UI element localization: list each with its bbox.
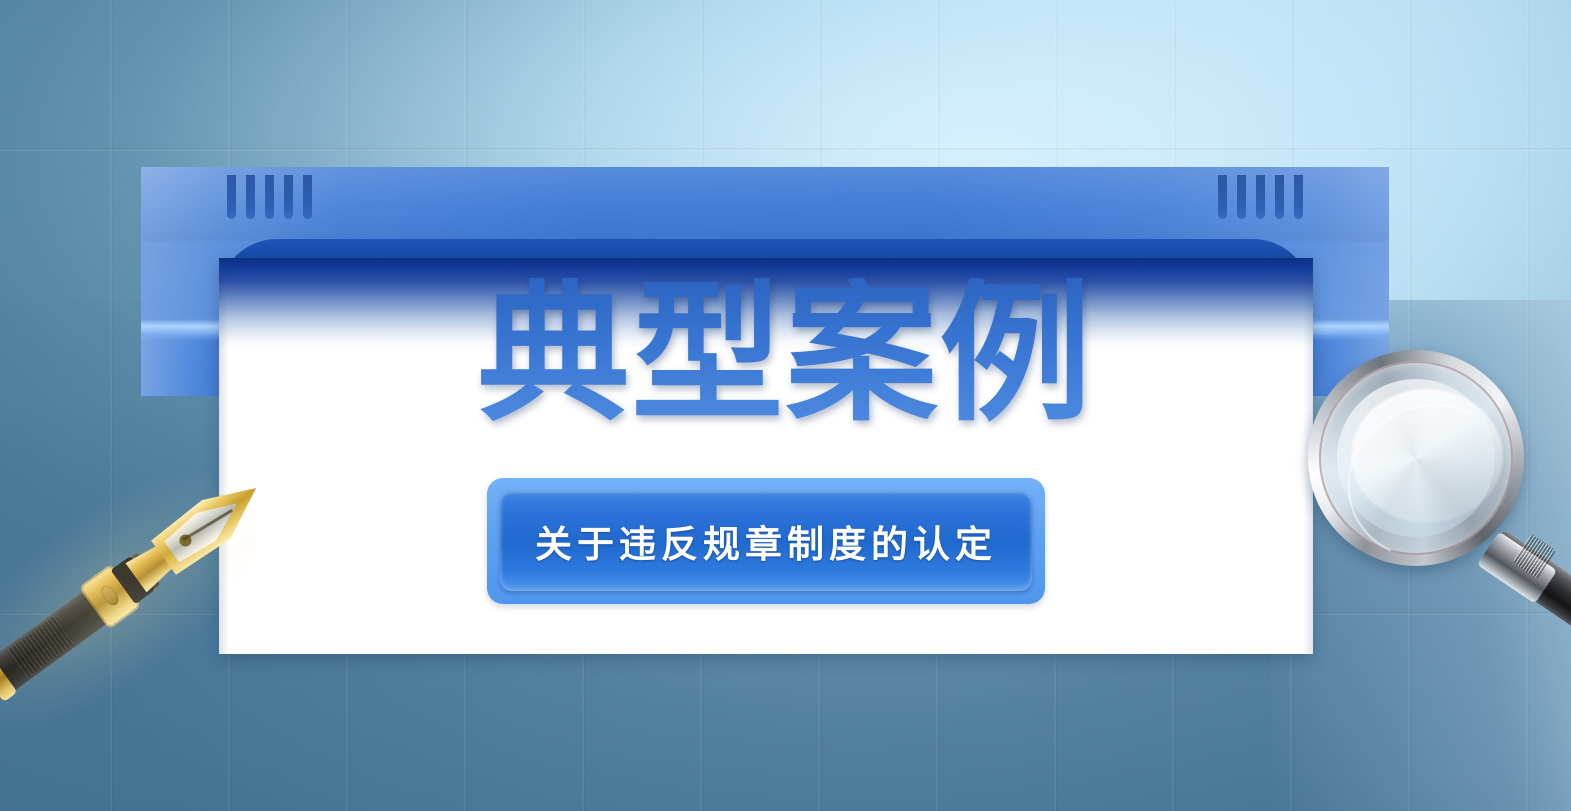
magnifier-lens (1337, 379, 1495, 537)
vent-slit (284, 175, 293, 219)
printer-vents-right (1218, 175, 1303, 219)
vent-slit (1237, 175, 1246, 219)
vent-slit (265, 175, 274, 219)
printer-top-lip (141, 167, 1389, 241)
vent-slit (1294, 175, 1303, 219)
subtitle-button-face[interactable]: 关于违反规章制度的认定 (500, 491, 1032, 591)
magnifier-icon (1300, 338, 1571, 668)
vent-slit (1218, 175, 1227, 219)
printer-vents-left (227, 175, 312, 219)
subtitle-button-label: 关于违反规章制度的认定 (535, 514, 997, 568)
vent-slit (1275, 175, 1284, 219)
vent-slit (303, 175, 312, 219)
poster-canvas: 典型案例 关于违反规章制度的认定 (0, 0, 1571, 811)
vent-slit (246, 175, 255, 219)
vent-slit (1256, 175, 1265, 219)
magnifier-rim-inner (1319, 361, 1513, 555)
pen-nib (149, 470, 271, 577)
vent-slit (227, 175, 236, 219)
subtitle-button[interactable]: 关于违反规章制度的认定 (487, 478, 1045, 604)
background-seam-upper (0, 148, 1571, 151)
magnifier-rim (1308, 350, 1524, 566)
